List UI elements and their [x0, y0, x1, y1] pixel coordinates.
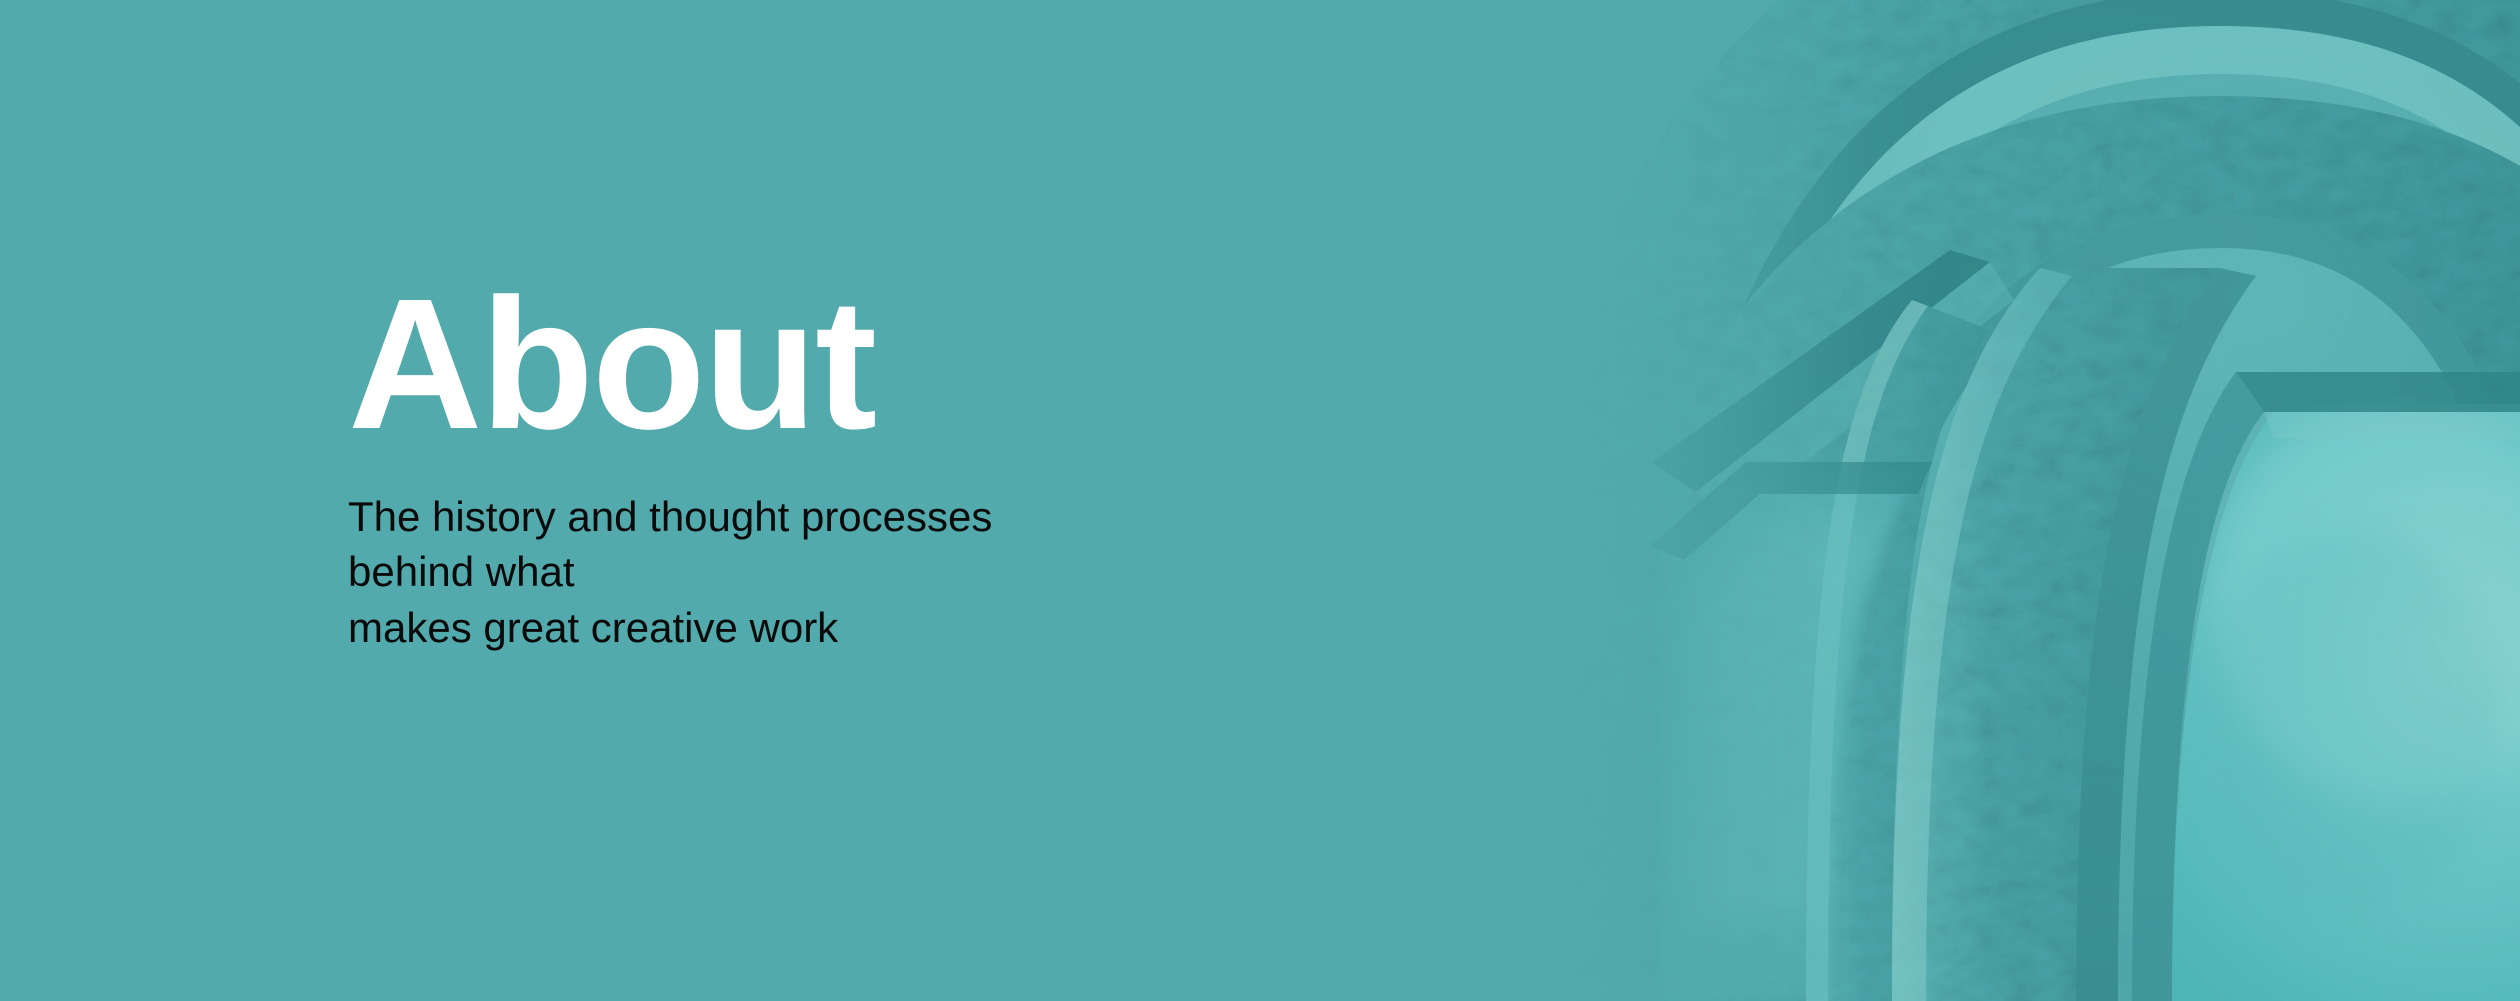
emblem-center-bevel-top: [2236, 372, 2520, 412]
emblem-left-fade: [1520, 0, 1940, 1001]
page-subtitle: The history and thought processes behind…: [348, 489, 1048, 655]
emblem-left-panel: [1660, 470, 1920, 1001]
emblem-notch-spur-face: [1696, 262, 2014, 520]
about-hero-banner: About The history and thought processes …: [0, 0, 2520, 1001]
emblem-left-stem-highlight: [1806, 300, 1928, 1001]
emblem-crossbar-shadow: [1808, 214, 2520, 1001]
emblem-highlight-arc: [1666, 26, 2520, 1001]
emblem-center-panel-glow-2: [2200, 530, 2500, 910]
emblem-sphere-shade: [1520, 0, 2520, 1001]
emblem-sheen: [1520, 0, 2520, 1001]
emblem-main-stem-bevel: [1892, 268, 2072, 1001]
emblem-center-panel: [2172, 404, 2520, 1001]
emblem-outer-arc: [1520, 0, 2520, 1001]
emblem-main-stem-shadow: [2076, 268, 2256, 1001]
emblem-left-panel-rim: [1650, 462, 1932, 560]
page-title: About: [348, 278, 1448, 453]
emblem-center-bevel-left: [2132, 372, 2264, 1001]
emblem-left-stem: [1806, 300, 1990, 1001]
emblem-left-panel-glow: [1692, 520, 1890, 920]
emblem-outer-arc-shadow: [1630, 0, 2520, 1001]
emblem-center-bevel-top-lip: [2264, 412, 2520, 438]
page-subtitle-line-2: makes great creative work: [348, 600, 1048, 655]
monogram-emblem-graphic: [1520, 0, 2520, 1001]
hero-copy: About The history and thought processes …: [348, 278, 1448, 655]
emblem-center-panel-glow: [2210, 400, 2520, 800]
page-subtitle-line-1: The history and thought processes behind…: [348, 489, 1048, 600]
emblem-notch-spur: [1652, 250, 1990, 492]
emblem-main-stem: [1892, 268, 2220, 1001]
monogram-emblem: [1520, 0, 2520, 1001]
emblem-crossbar-band: [1560, 96, 2520, 1001]
